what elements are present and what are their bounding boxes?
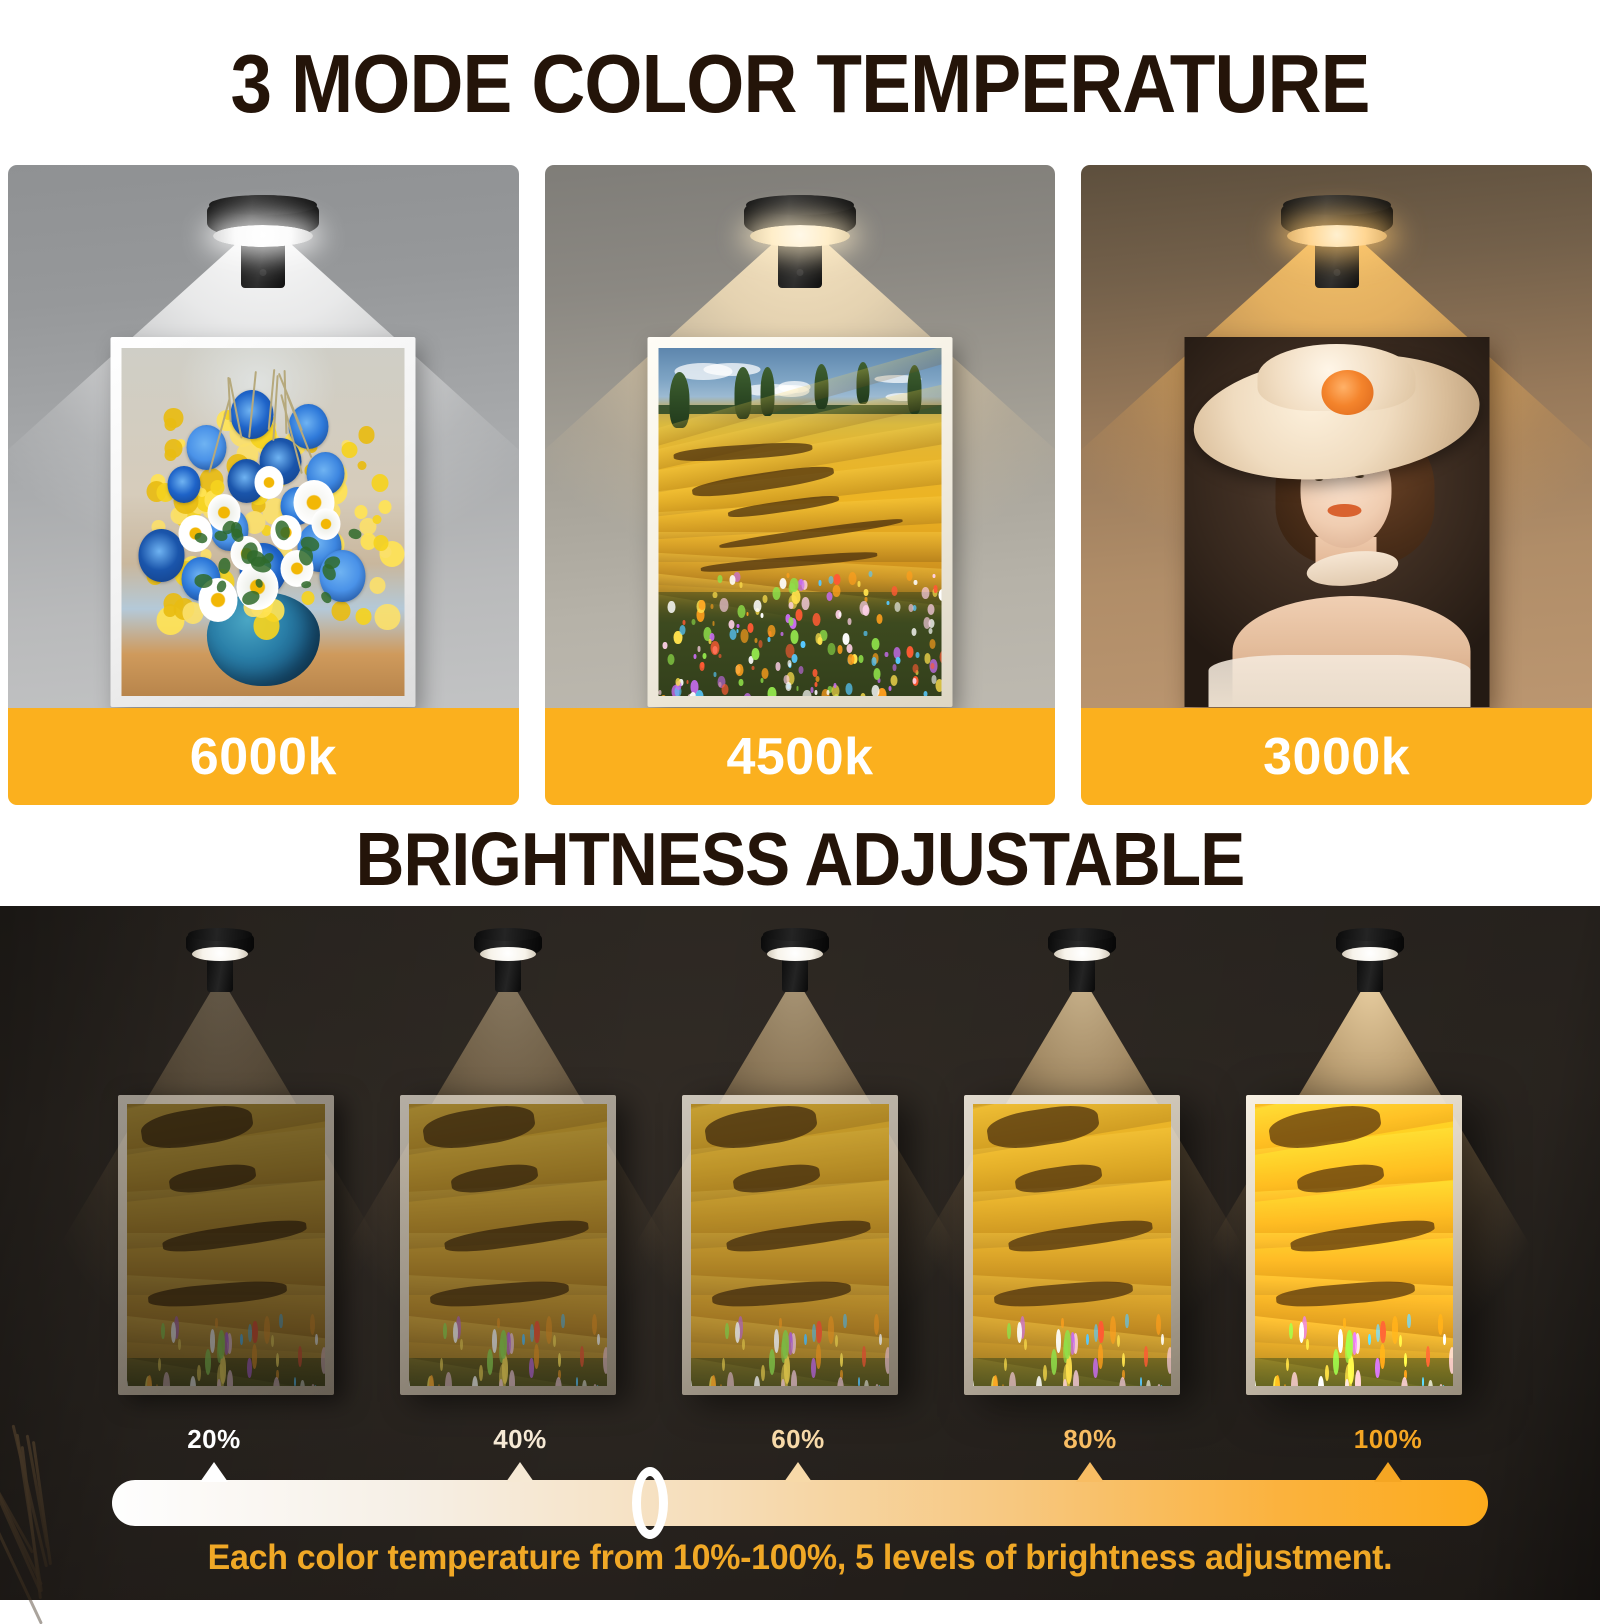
label-4500k: 4500k bbox=[545, 708, 1056, 805]
artwork-meadow-flower bbox=[661, 695, 667, 696]
artwork-yellow-blossom bbox=[301, 591, 314, 605]
artwork-portrait-dress bbox=[1209, 655, 1471, 707]
color-temperature-panel-3000k[interactable]: 3000k bbox=[1081, 165, 1592, 805]
picture-frame-3000k bbox=[1184, 337, 1489, 707]
artwork-meadow-flower bbox=[780, 632, 783, 637]
artwork-meadow-flower bbox=[736, 624, 739, 629]
artwork-meadow-flower bbox=[1094, 1324, 1098, 1342]
brightness-artwork-wheatfield bbox=[409, 1104, 607, 1386]
brightness-level-tick-icon bbox=[200, 1462, 228, 1482]
brightness-artwork-canvas bbox=[973, 1104, 1171, 1386]
brightness-level-tick-icon bbox=[784, 1462, 812, 1482]
artwork-meadow-flower bbox=[699, 600, 705, 610]
artwork-meadow-flower bbox=[1318, 1376, 1324, 1386]
artwork-meadow-flower bbox=[453, 1322, 458, 1343]
label-6000k: 6000k bbox=[8, 708, 519, 805]
artwork-meadow-flower bbox=[728, 620, 734, 629]
artwork-meadow-flower bbox=[1376, 1324, 1380, 1342]
artwork-meadow-flower bbox=[874, 1314, 879, 1335]
artwork-white-daisy bbox=[254, 466, 284, 499]
brightness-caption: Each color temperature from 10%-100%, 5 … bbox=[24, 1538, 1576, 1578]
artwork-meadow-flower bbox=[1161, 1334, 1163, 1345]
lamp-top-cap-icon bbox=[1050, 928, 1114, 941]
artwork-meadow-flower bbox=[938, 589, 941, 601]
lamp-top-cap-icon bbox=[1283, 195, 1391, 215]
brightness-artwork-wheatfield bbox=[973, 1104, 1171, 1386]
artwork-meadow-flower bbox=[727, 1372, 734, 1386]
artwork-flowers-canvas bbox=[122, 348, 405, 696]
artwork-meadow-flower bbox=[445, 1372, 452, 1386]
artwork-meadow-flower bbox=[1289, 1323, 1293, 1339]
artwork-meadow-flower bbox=[1345, 1379, 1349, 1386]
artwork-portrait-orange-rose bbox=[1321, 370, 1373, 414]
artwork-yellow-blossom bbox=[164, 418, 176, 431]
artwork-meadow-flower bbox=[1009, 1372, 1016, 1386]
artwork-meadow-flower bbox=[858, 655, 863, 663]
brightness-artwork-canvas bbox=[127, 1104, 325, 1386]
artwork-meadow-flower bbox=[215, 1318, 217, 1328]
artwork-meadow-flower bbox=[530, 1324, 534, 1342]
artwork-meadow-flower bbox=[908, 604, 913, 612]
artwork-meadow-flower bbox=[931, 675, 936, 684]
artwork-meadow-flower bbox=[754, 1376, 760, 1386]
artwork-yellow-blossom bbox=[355, 505, 368, 519]
artwork-yellow-blossom bbox=[358, 461, 367, 470]
lamp-led-glow-icon bbox=[750, 225, 850, 247]
artwork-meadow-flower bbox=[561, 1314, 564, 1328]
artwork-meadow-flower bbox=[871, 638, 879, 650]
artwork-meadow-flower bbox=[860, 601, 869, 615]
lamp-led-glow-icon bbox=[480, 947, 536, 961]
brightness-picture-frame bbox=[964, 1095, 1180, 1395]
artwork-meadow-flower bbox=[279, 1314, 282, 1328]
artwork-meadow-flower bbox=[711, 641, 720, 655]
artwork-meadow-flower bbox=[798, 666, 803, 674]
artwork-wheatfield-canvas bbox=[659, 348, 942, 696]
brightness-level-tick-icon bbox=[1374, 1462, 1402, 1482]
lamp-top-cap-icon bbox=[188, 928, 252, 941]
lamp-top-cap-icon bbox=[763, 928, 827, 941]
artwork-meadow-flower bbox=[835, 1335, 838, 1347]
artwork-meadow-flower bbox=[271, 1335, 274, 1347]
artwork-meadow-flower bbox=[834, 683, 837, 688]
artwork-meadow-flower bbox=[717, 575, 722, 582]
artwork-meadow-flower bbox=[864, 589, 868, 596]
artwork-meadow-flower bbox=[873, 668, 880, 680]
artwork-meadow-flower bbox=[923, 617, 930, 629]
artwork-meadow-flower bbox=[888, 686, 891, 691]
artwork-meadow-flower bbox=[190, 1376, 196, 1386]
artwork-meadow-flower bbox=[663, 642, 667, 648]
artwork-meadow-flower bbox=[499, 1379, 503, 1386]
artwork-meadow-flower bbox=[847, 654, 854, 665]
artwork-meadow-flower bbox=[828, 643, 836, 655]
artwork-meadow-flower bbox=[912, 678, 916, 685]
lamp-bracket-icon bbox=[782, 958, 808, 992]
artwork-meadow-flower bbox=[1117, 1335, 1120, 1347]
artwork-meadow-flower bbox=[500, 1330, 507, 1358]
artwork-meadow-flower bbox=[315, 1334, 317, 1345]
artwork-meadow-flower bbox=[1064, 1330, 1071, 1358]
artwork-meadow-flower bbox=[885, 1347, 889, 1373]
artwork-yellow-blossom bbox=[372, 474, 389, 492]
artwork-meadow-flower bbox=[713, 592, 717, 599]
artwork-meadow-flower bbox=[1438, 1314, 1443, 1335]
artwork-meadow-flower bbox=[753, 600, 761, 612]
page-title-brightness-adjustable: BRIGHTNESS ADJUSTABLE bbox=[80, 816, 1520, 902]
artwork-meadow-flower bbox=[762, 668, 769, 679]
lamp-bracket-icon bbox=[778, 242, 822, 288]
artwork-yellow-blossom bbox=[358, 426, 375, 443]
artwork-meadow-flower bbox=[1007, 1323, 1011, 1339]
decorative-plant-silhouette bbox=[18, 1400, 108, 1590]
artwork-meadow-flower bbox=[205, 1349, 211, 1375]
artwork-meadow-flower bbox=[1043, 1365, 1047, 1381]
artwork-meadow-flower bbox=[240, 1334, 243, 1345]
artwork-meadow-flower bbox=[868, 571, 872, 578]
artwork-meadow-flower bbox=[752, 666, 755, 670]
artwork-meadow-flower bbox=[719, 654, 722, 658]
artwork-meadow-flower bbox=[804, 1334, 807, 1345]
artwork-meadow-flower bbox=[443, 1323, 447, 1339]
artwork-meadow-flower bbox=[497, 1318, 499, 1328]
artwork-meadow-flower bbox=[197, 1365, 201, 1381]
artwork-meadow-flower bbox=[812, 1324, 816, 1342]
brightness-picture-frame bbox=[1246, 1095, 1462, 1395]
picture-frame-4500k bbox=[648, 337, 953, 707]
lamp-bracket-icon bbox=[495, 958, 521, 992]
artwork-portrait-lips bbox=[1328, 504, 1362, 517]
lamp-led-glow-icon bbox=[213, 225, 313, 247]
artwork-meadow-flower bbox=[816, 676, 820, 682]
artwork-meadow-flower bbox=[693, 654, 696, 659]
lamp-top-cap-icon bbox=[746, 195, 854, 215]
artwork-meadow-flower bbox=[592, 1314, 597, 1335]
artwork-meadow-flower bbox=[725, 1323, 729, 1339]
lamp-led-glow-icon bbox=[1287, 225, 1387, 247]
artwork-meadow-flower bbox=[1156, 1314, 1161, 1335]
brightness-level-label: 80% bbox=[1063, 1424, 1117, 1455]
artwork-meadow-flower bbox=[921, 587, 929, 599]
brightness-level-label: 40% bbox=[493, 1424, 547, 1455]
artwork-meadow-flower bbox=[714, 672, 717, 676]
lamp-bracket-icon bbox=[1069, 958, 1095, 992]
artwork-meadow-flower bbox=[1333, 1349, 1339, 1375]
artwork-yellow-blossom bbox=[165, 449, 176, 461]
artwork-meadow-flower bbox=[472, 1376, 478, 1386]
artwork-meadow-flower bbox=[1299, 1322, 1304, 1343]
lamp-bracket-icon bbox=[1315, 242, 1359, 288]
artwork-meadow-flower bbox=[754, 638, 757, 643]
artwork-meadow-flower bbox=[802, 597, 810, 609]
lamp-led-glow-icon bbox=[192, 947, 248, 961]
artwork-meadow-flower bbox=[1325, 1365, 1329, 1381]
artwork-meadow-flower bbox=[147, 1375, 152, 1386]
lamp-top-cap-icon bbox=[476, 928, 540, 941]
artwork-meadow-flower bbox=[782, 1330, 789, 1358]
artwork-meadow-flower bbox=[871, 657, 876, 665]
artwork-meadow-flower bbox=[703, 653, 707, 659]
artwork-meadow-flower bbox=[763, 595, 768, 603]
artwork-meadow-flower bbox=[1399, 1335, 1402, 1347]
artwork-meadow-flower bbox=[1098, 1321, 1103, 1343]
artwork-meadow-flower bbox=[916, 652, 920, 658]
artwork-meadow-flower bbox=[252, 1321, 257, 1343]
brightness-artwork-wheatfield bbox=[127, 1104, 325, 1386]
brightness-level-label: 60% bbox=[771, 1424, 825, 1455]
artwork-meadow-flower bbox=[1439, 1384, 1443, 1386]
artwork-meadow-flower bbox=[1051, 1349, 1057, 1375]
lamp-led-glow-icon bbox=[1054, 947, 1110, 961]
artwork-meadow-flower bbox=[928, 604, 935, 615]
color-temperature-panel-4500k[interactable]: 4500k bbox=[545, 165, 1056, 805]
artwork-meadow-flower bbox=[814, 682, 817, 687]
artwork-meadow-flower bbox=[1063, 1379, 1067, 1386]
artwork-meadow-flower bbox=[675, 678, 680, 686]
artwork-meadow-flower bbox=[1443, 1334, 1445, 1345]
artwork-meadow-flower bbox=[932, 574, 935, 579]
brightness-slider-handle[interactable] bbox=[632, 1467, 668, 1539]
artwork-meadow-flower bbox=[890, 675, 897, 686]
brightness-artwork-wheatfield bbox=[691, 1104, 889, 1386]
artwork-meadow-flower bbox=[691, 619, 695, 625]
artwork-meadow-flower bbox=[479, 1365, 483, 1381]
artwork-meadow-flower bbox=[818, 580, 821, 585]
artwork-meadow-flower bbox=[833, 585, 841, 597]
artwork-meadow-flower bbox=[1004, 1358, 1007, 1372]
artwork-meadow-flower bbox=[440, 1358, 443, 1372]
artwork-meadow-flower bbox=[786, 573, 789, 578]
artwork-meadow-flower bbox=[178, 1339, 181, 1351]
artwork-meadow-flower bbox=[769, 1349, 775, 1375]
artwork-meadow-flower bbox=[522, 1334, 525, 1345]
artwork-meadow-flower bbox=[785, 682, 791, 692]
artwork-meadow-flower bbox=[796, 686, 799, 690]
artwork-meadow-flower bbox=[1449, 1347, 1453, 1373]
artwork-meadow-flower bbox=[781, 1379, 785, 1386]
artwork-blue-cornflower bbox=[168, 466, 201, 503]
artwork-meadow-flower bbox=[668, 601, 675, 613]
brightness-picture-frame bbox=[400, 1095, 616, 1395]
brightness-artwork-wheatfield bbox=[1255, 1104, 1453, 1386]
lamp-bracket-icon bbox=[207, 958, 233, 992]
artwork-meadow-flower bbox=[722, 1358, 725, 1372]
artwork-meadow-flower bbox=[761, 1365, 765, 1381]
scene-4500k bbox=[545, 165, 1056, 708]
artwork-meadow-flower bbox=[1125, 1314, 1128, 1328]
artwork-meadow-flower bbox=[248, 1324, 252, 1342]
artwork-wheatfield-background bbox=[659, 348, 942, 696]
artwork-meadow-flower bbox=[217, 1379, 221, 1386]
lamp-led-glow-icon bbox=[767, 947, 823, 961]
scene-6000k bbox=[8, 165, 519, 708]
artwork-meadow-flower bbox=[924, 691, 928, 696]
artwork-meadow-flower bbox=[1093, 1358, 1098, 1378]
artwork-meadow-flower bbox=[710, 604, 713, 609]
artwork-meadow-flower bbox=[816, 1321, 821, 1343]
scene-3000k bbox=[1081, 165, 1592, 708]
brightness-artwork-canvas bbox=[1255, 1104, 1453, 1386]
artwork-meadow-flower bbox=[161, 1323, 165, 1339]
artwork-meadow-flower bbox=[1346, 1330, 1353, 1358]
lamp-top-cap-icon bbox=[1338, 928, 1402, 941]
artwork-meadow-flower bbox=[163, 1372, 170, 1386]
artwork-yellow-blossom bbox=[373, 515, 382, 525]
artwork-meadow-flower bbox=[828, 576, 833, 584]
artwork-meadow-flower bbox=[735, 1322, 740, 1343]
artwork-meadow-flower bbox=[891, 586, 897, 596]
artwork-meadow-flower bbox=[603, 1347, 607, 1373]
artwork-meadow-flower bbox=[1086, 1334, 1089, 1345]
artwork-meadow-flower bbox=[1061, 1318, 1063, 1328]
artwork-meadow-flower bbox=[843, 1314, 846, 1328]
artwork-meadow-flower bbox=[768, 625, 776, 637]
artwork-meadow-flower bbox=[803, 690, 811, 696]
artwork-meadow-flower bbox=[310, 1314, 315, 1335]
artwork-meadow-flower bbox=[876, 614, 882, 624]
artwork-meadow-flower bbox=[789, 602, 794, 610]
artwork-meadow-flower bbox=[739, 582, 742, 588]
picture-frame-6000k bbox=[111, 337, 416, 707]
artwork-meadow-flower bbox=[730, 629, 737, 640]
artwork-meadow-flower bbox=[158, 1358, 161, 1372]
artwork-meadow-flower bbox=[1375, 1358, 1380, 1378]
brightness-artwork-canvas bbox=[409, 1104, 607, 1386]
artwork-meadow-flower bbox=[593, 1384, 597, 1386]
artwork-meadow-flower bbox=[487, 1349, 493, 1375]
artwork-meadow-flower bbox=[875, 1384, 879, 1386]
artwork-meadow-flower bbox=[768, 687, 776, 696]
artwork-meadow-flower bbox=[864, 631, 867, 636]
artwork-meadow-flower bbox=[529, 1358, 534, 1378]
artwork-meadow-flower bbox=[730, 575, 736, 585]
artwork-meadow-flower bbox=[311, 1384, 315, 1386]
artwork-yellow-blossom bbox=[355, 608, 371, 625]
artwork-meadow-flower bbox=[779, 1318, 781, 1328]
product-infographic: 3 MODE COLOR TEMPERATURE bbox=[0, 0, 1600, 1600]
artwork-meadow-flower bbox=[740, 629, 748, 642]
artwork-meadow-flower bbox=[1275, 1375, 1280, 1386]
artwork-meadow-flower bbox=[1157, 1384, 1161, 1386]
artwork-meadow-flower bbox=[736, 664, 743, 676]
color-temperature-panel-row: 6000k bbox=[8, 165, 1592, 805]
artwork-meadow-flower bbox=[931, 663, 935, 669]
artwork-meadow-flower bbox=[597, 1334, 599, 1345]
page-title-color-temperature: 3 MODE COLOR TEMPERATURE bbox=[80, 36, 1520, 132]
artwork-meadow-flower bbox=[720, 598, 729, 612]
artwork-meadow-flower bbox=[768, 637, 771, 642]
artwork-meadow-flower bbox=[871, 685, 879, 696]
artwork-meadow-flower bbox=[775, 662, 780, 670]
label-3000k: 3000k bbox=[1081, 708, 1592, 805]
artwork-meadow-flower bbox=[1167, 1347, 1171, 1373]
brightness-level-tick-icon bbox=[1076, 1462, 1104, 1482]
artwork-meadow-flower bbox=[247, 1358, 252, 1378]
artwork-meadow-flower bbox=[1380, 1321, 1385, 1343]
artwork-meadow-flower bbox=[1343, 1318, 1345, 1328]
artwork-meadow-flower bbox=[1291, 1372, 1298, 1386]
brightness-artwork-canvas bbox=[691, 1104, 889, 1386]
artwork-meadow-flower bbox=[860, 693, 865, 696]
artwork-meadow-flower bbox=[1368, 1334, 1371, 1345]
artwork-portrait-canvas bbox=[1184, 337, 1489, 707]
artwork-meadow-flower bbox=[460, 1339, 463, 1351]
artwork-meadow-flower bbox=[1036, 1376, 1042, 1386]
artwork-meadow-flower bbox=[171, 1322, 176, 1343]
artwork-meadow-flower bbox=[906, 646, 913, 657]
artwork-meadow-flower bbox=[801, 641, 805, 648]
artwork-meadow-flower bbox=[553, 1335, 556, 1347]
color-temperature-panel-6000k[interactable]: 6000k bbox=[8, 165, 519, 805]
artwork-meadow-flower bbox=[429, 1375, 434, 1386]
brightness-picture-frame bbox=[682, 1095, 898, 1395]
artwork-meadow-flower bbox=[914, 580, 917, 585]
brightness-level-label: 20% bbox=[187, 1424, 241, 1455]
artwork-meadow-flower bbox=[810, 687, 813, 692]
artwork-meadow-flower bbox=[1306, 1339, 1309, 1351]
artwork-meadow-flower bbox=[321, 1347, 325, 1373]
artwork-meadow-flower bbox=[993, 1375, 998, 1386]
brightness-picture-frame bbox=[118, 1095, 334, 1395]
artwork-meadow-flower bbox=[885, 652, 889, 658]
lamp-led-glow-icon bbox=[1342, 947, 1398, 961]
artwork-yellow-blossom bbox=[379, 500, 392, 514]
artwork-meadow-flower bbox=[1407, 1314, 1410, 1328]
artwork-meadow-flower bbox=[711, 1375, 716, 1386]
artwork-meadow-flower bbox=[790, 578, 798, 592]
artwork-blue-cornflower bbox=[138, 529, 185, 582]
brightness-level-label: 100% bbox=[1354, 1424, 1423, 1455]
artwork-meadow-flower bbox=[742, 1339, 745, 1351]
artwork-meadow-flower bbox=[837, 645, 842, 653]
artwork-meadow-flower bbox=[838, 612, 841, 617]
artwork-meadow-flower bbox=[1286, 1358, 1289, 1372]
lamp-bracket-icon bbox=[1357, 958, 1383, 992]
artwork-meadow-flower bbox=[1017, 1322, 1022, 1343]
brightness-slider-track[interactable] bbox=[112, 1480, 1488, 1526]
artwork-meadow-flower bbox=[811, 1358, 816, 1378]
artwork-meadow-flower bbox=[218, 1330, 225, 1358]
artwork-meadow-flower bbox=[936, 679, 942, 692]
lamp-bracket-icon bbox=[241, 242, 285, 288]
lamp-top-cap-icon bbox=[209, 195, 317, 215]
artwork-meadow-flower bbox=[834, 574, 841, 585]
artwork-meadow-flower bbox=[1024, 1339, 1027, 1351]
artwork-meadow-flower bbox=[534, 1321, 539, 1343]
artwork-meadow-flower bbox=[773, 587, 781, 599]
artwork-meadow-flower bbox=[879, 1334, 881, 1345]
brightness-level-tick-icon bbox=[506, 1462, 534, 1482]
